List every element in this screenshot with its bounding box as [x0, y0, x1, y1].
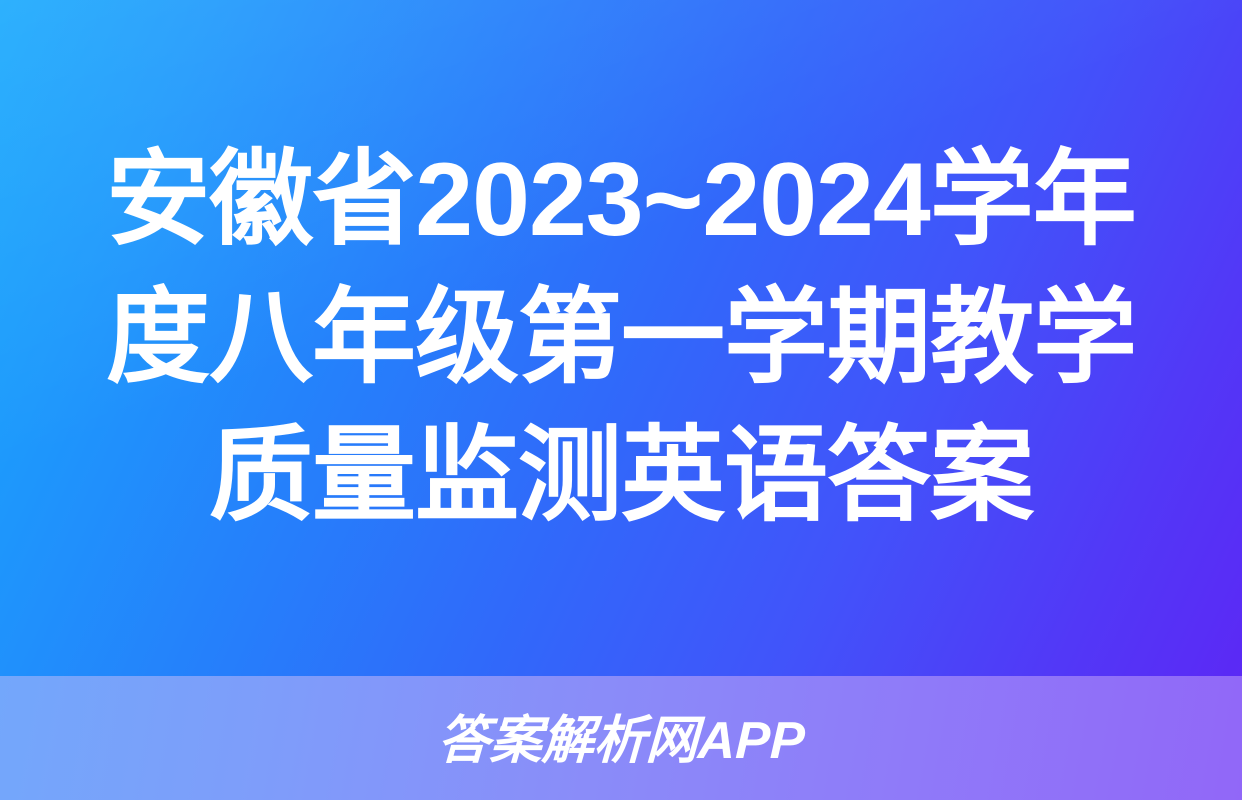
watermark-band: 答案解析网APP [0, 676, 1242, 800]
watermark-app-label: 答案解析网APP [436, 707, 805, 769]
title-container: 安徽省2023~2024学年度八年级第一学期教学质量监测英语答案 [0, 0, 1242, 676]
page-title: 安徽省2023~2024学年度八年级第一学期教学质量监测英语答案 [86, 131, 1156, 545]
poster-canvas: 安徽省2023~2024学年度八年级第一学期教学质量监测英语答案 答案解析网AP… [0, 0, 1242, 800]
